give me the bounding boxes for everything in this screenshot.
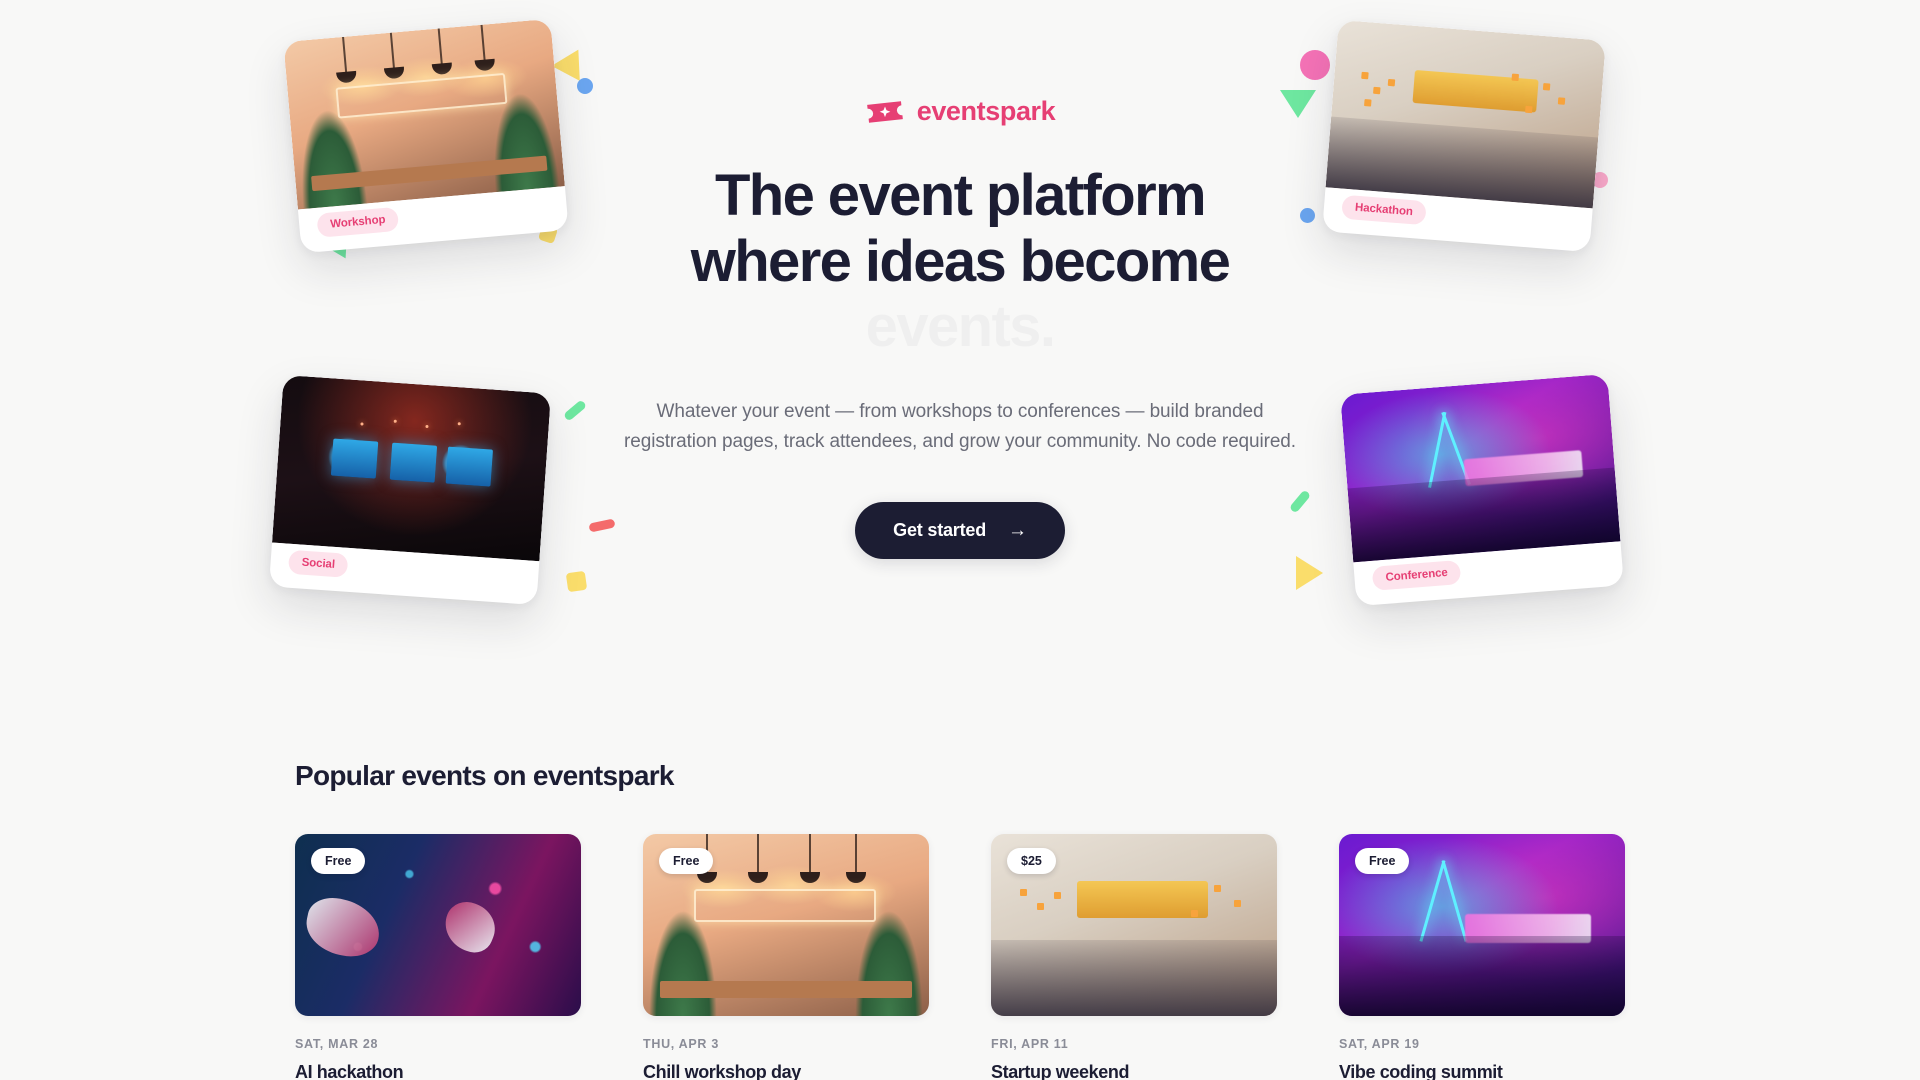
landing-page: Workshop Hackathon [0, 0, 1920, 1080]
event-title: Chill workshop day [643, 1062, 929, 1080]
event-date: THU, APR 3 [643, 1037, 929, 1051]
event-thumbnail: $25 [991, 834, 1277, 1016]
event-price-badge: Free [659, 848, 713, 874]
headline-line-1: The event platform [715, 163, 1205, 228]
deco-circle-blue-left [577, 78, 593, 94]
floating-card-hackathon[interactable]: Hackathon [1322, 20, 1606, 252]
event-date: SAT, MAR 28 [295, 1037, 581, 1051]
event-thumbnail: Free [643, 834, 929, 1016]
event-date: SAT, APR 19 [1339, 1037, 1625, 1051]
floating-card-workshop[interactable]: Workshop [283, 19, 568, 254]
section-title: Popular events on eventspark [295, 760, 1625, 792]
event-price-badge: $25 [1007, 848, 1056, 874]
event-card-grid: Free SAT, MAR 28 AI hackathon [295, 834, 1625, 1080]
event-date: FRI, APR 11 [991, 1037, 1277, 1051]
event-thumbnail: Free [1339, 834, 1625, 1016]
deco-triangle-yellow-conference [1296, 556, 1323, 590]
event-card[interactable]: Free SAT, MAR 28 AI hackathon [295, 834, 581, 1080]
page-title: The event platform where ideas become ev… [620, 163, 1300, 360]
hero-subtitle: Whatever your event — from workshops to … [620, 397, 1300, 459]
event-title: Startup weekend [991, 1062, 1277, 1080]
event-card[interactable]: $25 FRI, APR 11 Startup weekend [991, 834, 1277, 1080]
floating-card-photo-social [272, 375, 551, 561]
deco-bar-red-social [588, 518, 615, 532]
floating-card-tag: Social [288, 550, 349, 578]
event-price-badge: Free [311, 848, 365, 874]
floating-card-tag: Workshop [316, 207, 399, 238]
get-started-button[interactable]: Get started → [855, 502, 1065, 559]
event-price-badge: Free [1355, 848, 1409, 874]
floating-card-social[interactable]: Social [269, 375, 551, 605]
event-thumbnail: Free [295, 834, 581, 1016]
floating-card-photo-hackathon [1326, 20, 1606, 209]
event-title: AI hackathon [295, 1062, 581, 1080]
deco-circle-pink-right [1300, 50, 1330, 80]
headline-rotating-word: events. [620, 294, 1300, 360]
floating-card-photo-workshop [283, 19, 565, 210]
floating-card-tag: Hackathon [1341, 195, 1427, 226]
deco-triangle-yellow-left [552, 42, 593, 81]
deco-square-yellow-social [566, 571, 587, 592]
get-started-label: Get started [893, 520, 986, 541]
floating-card-conference[interactable]: Conference [1340, 374, 1624, 606]
deco-circle-blue-right [1300, 208, 1315, 223]
hero-content: eventspark The event platform where idea… [620, 96, 1300, 559]
arrow-right-icon: → [1008, 521, 1027, 540]
event-title: Vibe coding summit [1339, 1062, 1625, 1080]
event-card[interactable]: Free SAT, APR 19 Vibe coding summit [1339, 834, 1625, 1080]
hero-section: Workshop Hackathon [0, 0, 1920, 665]
floating-card-tag: Conference [1372, 560, 1462, 591]
ticket-sparkle-icon [865, 99, 905, 125]
brand-logo[interactable]: eventspark [620, 96, 1300, 127]
floating-card-photo-conference [1340, 374, 1620, 563]
popular-events-section: Popular events on eventspark Free SAT, M… [0, 760, 1920, 1080]
event-card[interactable]: Free THU, APR 3 Chill workshop day [643, 834, 929, 1080]
brand-name: eventspark [917, 96, 1056, 127]
headline-line-2: where ideas become [691, 229, 1230, 294]
deco-bar-green-social [563, 399, 587, 421]
